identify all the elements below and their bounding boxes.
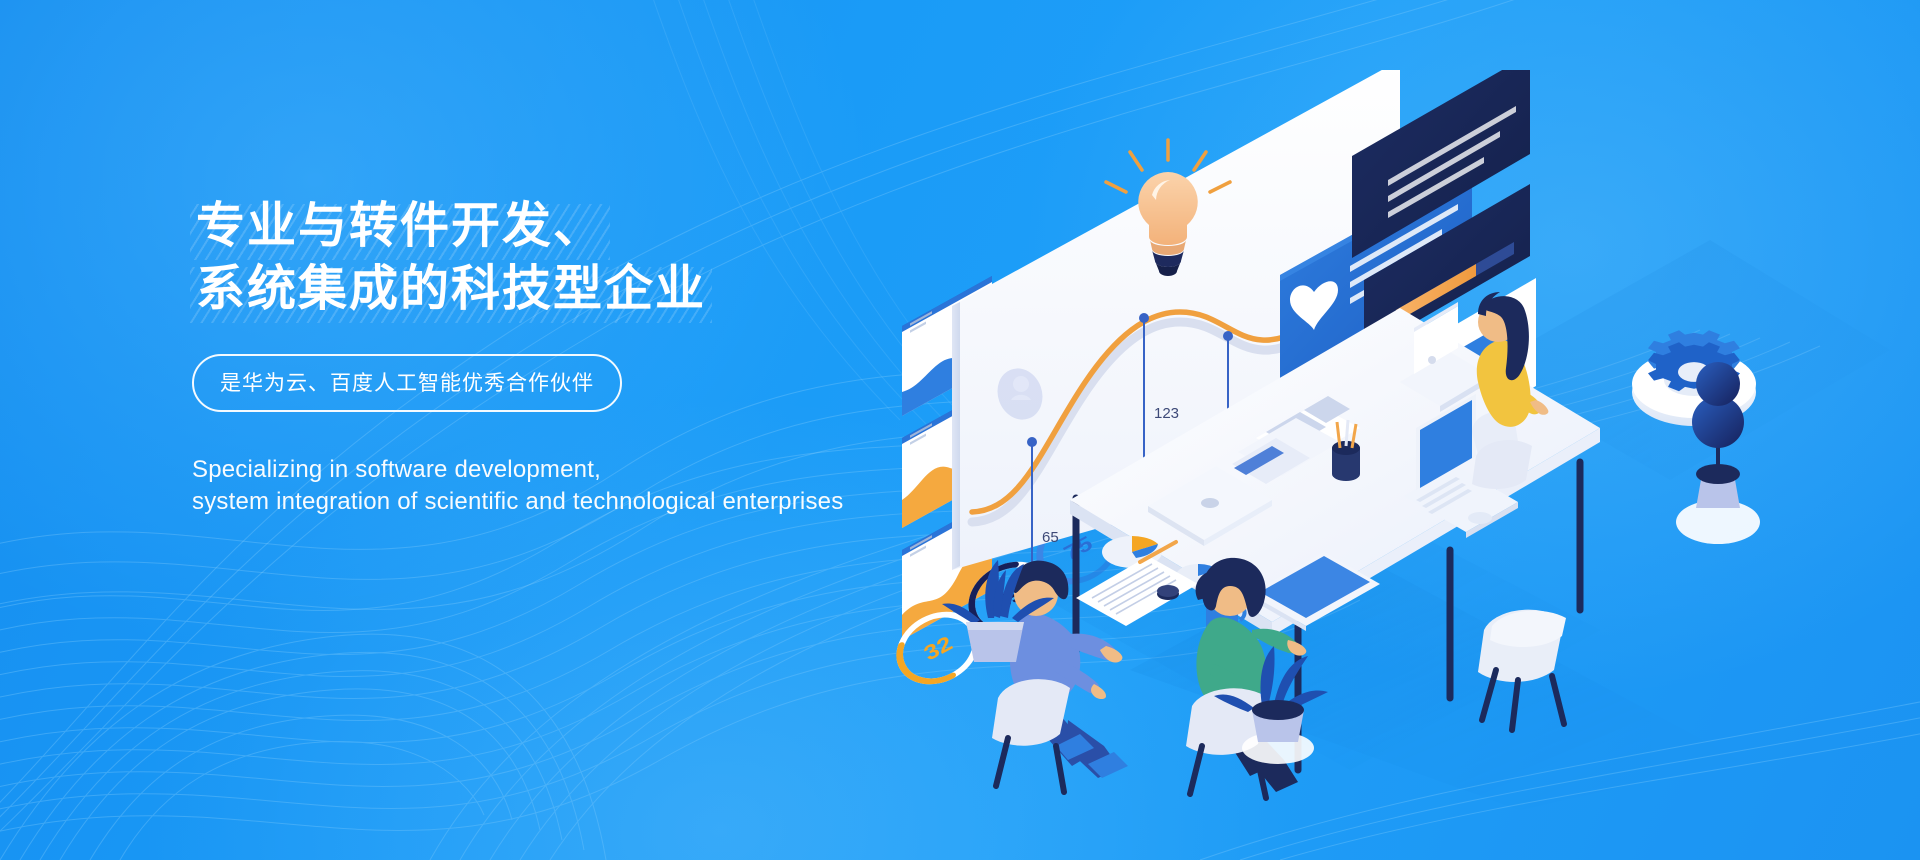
partner-badge[interactable]: 是华为云、百度人工智能优秀合作伙伴: [192, 354, 622, 412]
headline-line-1-text: 专业与转件开发、: [196, 199, 604, 253]
headline-line-2-text: 系统集成的科技型企业: [196, 262, 706, 316]
hero-illustration: 75 55 32: [880, 70, 1920, 810]
headline-line-2: 系统集成的科技型企业: [192, 259, 710, 319]
headline-line-1: 专业与转件开发、: [192, 196, 608, 256]
hero-banner: 专业与转件开发、 系统集成的科技型企业 是华为云、百度人工智能优秀合作伙伴 Sp…: [0, 0, 1920, 860]
gauge-32-value: 32: [920, 631, 956, 665]
partner-badge-label: 是华为云、百度人工智能优秀合作伙伴: [220, 372, 594, 395]
chart-label-65: 65: [1042, 529, 1059, 546]
chart-label-123: 123: [1154, 405, 1179, 422]
isometric-scene: 75 55 32: [880, 70, 1920, 810]
